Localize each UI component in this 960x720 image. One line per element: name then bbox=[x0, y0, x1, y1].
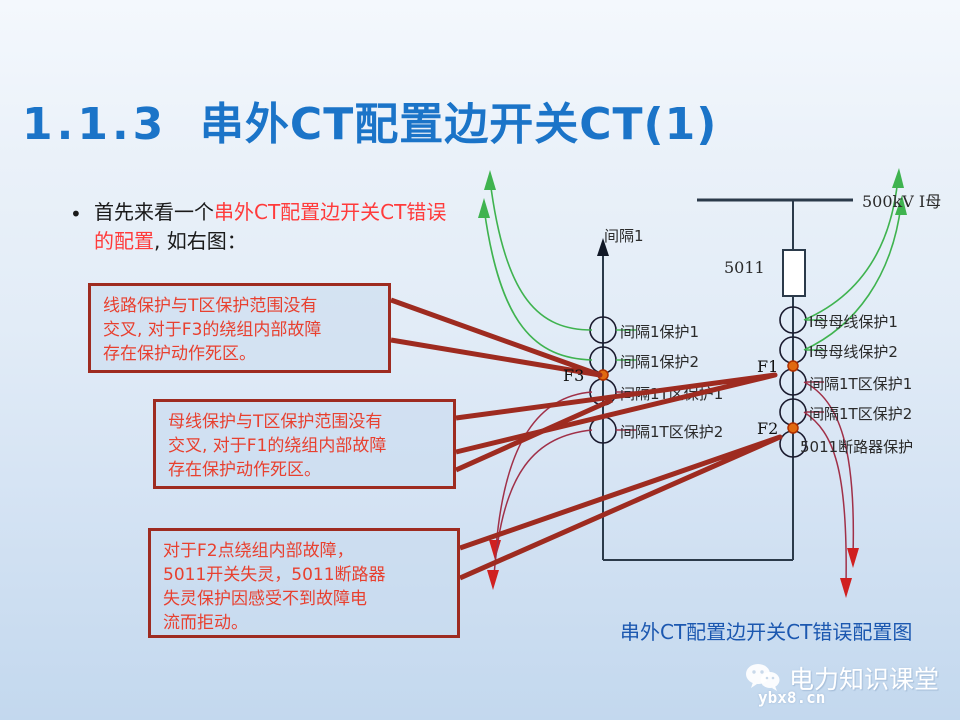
diagram-caption: 串外CT配置边开关CT错误配置图 bbox=[620, 616, 912, 645]
ct-label-right-4: 间隔1T区保护2 bbox=[809, 403, 912, 424]
bullet-marker: • bbox=[70, 200, 82, 229]
callout3-line3: 失灵保护因感受不到故障电 bbox=[163, 587, 447, 611]
ct-label-right-5: 5011断路器保护 bbox=[800, 436, 913, 457]
ct-label-right-3: 间隔1T区保护1 bbox=[809, 373, 912, 394]
bullet-text: 首先来看一个串外CT配置边开关CT错误的配置, 如右图： bbox=[94, 198, 450, 256]
ct-circle-right-2 bbox=[780, 337, 806, 363]
zone-curve-red-left-1 bbox=[496, 392, 592, 548]
zone-curve-green-left-1 bbox=[490, 180, 592, 330]
callout2-line1: 母线保护与T区保护范围没有 bbox=[168, 410, 443, 434]
page-title: 1.1.3 串外CT配置边开关CT(1) bbox=[22, 88, 717, 152]
callout3-line1: 对于F2点绕组内部故障， bbox=[163, 539, 447, 563]
callout3-line2: 5011开关失灵，5011断路器 bbox=[163, 563, 447, 587]
ct-circle-right-1 bbox=[780, 307, 806, 333]
callout2-line3: 存在保护动作死区。 bbox=[168, 458, 443, 482]
ct-label-right-1: Ⅰ母母线保护1 bbox=[809, 311, 898, 332]
callout1-line1: 线路保护与T区保护范围没有 bbox=[103, 294, 378, 318]
ct-circle-left-1 bbox=[590, 317, 616, 343]
ct-circle-left-4 bbox=[590, 417, 616, 443]
ct-label-left-1: 间隔1保护1 bbox=[620, 321, 699, 342]
ct-label-left-4: 间隔1T区保护2 bbox=[620, 421, 723, 442]
bullet-part2: , 如右图： bbox=[154, 229, 247, 253]
ct-circle-left-2 bbox=[590, 347, 616, 373]
bus-label: 500kV Ⅰ母 bbox=[862, 188, 941, 212]
ct-circle-right-3 bbox=[780, 369, 806, 395]
breaker-label: 5011 bbox=[724, 258, 765, 277]
bullet-part1: 首先来看一个 bbox=[94, 200, 214, 224]
ct-label-left-3: 间隔1T区保护1 bbox=[620, 383, 723, 404]
ct-circle-right-4 bbox=[780, 399, 806, 425]
callout1-line2: 交叉, 对于F3的绕组内部故障 bbox=[103, 318, 378, 342]
fault-point-F3-dot bbox=[598, 370, 608, 380]
bullet-paragraph: • 首先来看一个串外CT配置边开关CT错误的配置, 如右图： bbox=[70, 198, 450, 256]
callout-box-line-protection: 线路保护与T区保护范围没有 交叉, 对于F3的绕组内部故障 存在保护动作死区。 bbox=[88, 283, 391, 373]
zone-curve-green-left-2 bbox=[484, 208, 592, 360]
ct-circle-left-3 bbox=[590, 379, 616, 405]
callout1-line3: 存在保护动作死区。 bbox=[103, 342, 378, 366]
fault-label-F3: F3 bbox=[563, 366, 584, 385]
ct-label-left-2: 间隔1保护2 bbox=[620, 351, 699, 372]
ct-label-right-2: Ⅰ母母线保护2 bbox=[809, 341, 898, 362]
title-text: 串外CT配置边开关CT(1) bbox=[200, 99, 717, 150]
callout3-line4: 流而拒动。 bbox=[163, 611, 447, 635]
fault-point-F2-dot bbox=[788, 423, 798, 433]
fault-label-F1: F1 bbox=[757, 357, 778, 376]
breaker-5011-symbol bbox=[783, 250, 805, 296]
bay1-label: 间隔1 bbox=[604, 225, 644, 246]
watermark-site: ybx8.cn bbox=[758, 688, 825, 707]
callout2-line2: 交叉, 对于F1的绕组内部故障 bbox=[168, 434, 443, 458]
zone-curve-red-left-2 bbox=[494, 430, 592, 576]
fault-point-F1-dot bbox=[788, 361, 798, 371]
callout-box-bus-protection: 母线保护与T区保护范围没有 交叉, 对于F1的绕组内部故障 存在保护动作死区。 bbox=[153, 399, 456, 489]
fault-label-F2: F2 bbox=[757, 419, 778, 438]
title-number: 1.1.3 bbox=[22, 99, 167, 150]
callout-box-breaker-failure: 对于F2点绕组内部故障， 5011开关失灵，5011断路器 失灵保护因感受不到故… bbox=[148, 528, 460, 638]
slide-root: 1.1.3 串外CT配置边开关CT(1) • 首先来看一个串外CT配置边开关CT… bbox=[0, 0, 960, 720]
